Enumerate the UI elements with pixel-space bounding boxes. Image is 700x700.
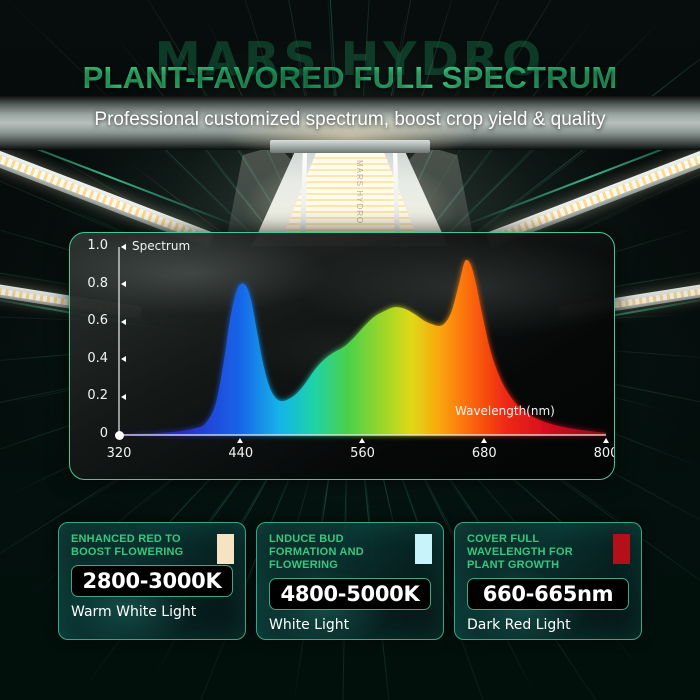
origin-marker xyxy=(115,431,124,440)
fixture-cap xyxy=(270,140,430,153)
card-caption: Dark Red Light xyxy=(467,617,629,633)
card-heading: LNDUCE BUD FORMATION AND FLOWERING xyxy=(269,533,397,572)
legend-tick-icon xyxy=(121,244,126,250)
x-tick-label: 560 xyxy=(333,446,393,461)
y-tick-label: 0.2 xyxy=(74,388,108,403)
card-heading: ENHANCED RED TO BOOST FLOWERING xyxy=(71,533,199,559)
page-subtitle: Professional customized spectrum, boost … xyxy=(0,109,700,131)
warm-white-swatch xyxy=(217,534,234,564)
card-value-pill: 2800-3000K xyxy=(71,565,233,597)
y-tick-label: 1.0 xyxy=(74,238,108,253)
card-caption: White Light xyxy=(269,617,431,633)
x-tick-label: 680 xyxy=(454,446,514,461)
card-caption: Warm White Light xyxy=(71,604,233,620)
card-value: 660-665nm xyxy=(483,582,614,606)
card-heading: COVER FULL WAVELENGTH FOR PLANT GROWTH xyxy=(467,533,595,572)
x-tick-label: 800 xyxy=(576,446,615,461)
spectrum-chart-panel: 00.20.40.60.81.0 320440560680800 Spectru… xyxy=(69,232,615,480)
y-tick-mark xyxy=(121,281,126,287)
card-value-pill: 660-665nm xyxy=(467,578,629,610)
y-tick-label: 0.6 xyxy=(74,313,108,328)
spectrum-plot xyxy=(70,233,615,480)
y-tick-label: 0 xyxy=(74,426,108,441)
dark-red-swatch xyxy=(613,534,630,564)
promo-graphic: MARS HYDRO MARS HYDRO PLANT-FAVORED FULL… xyxy=(0,0,700,700)
y-tick-mark xyxy=(121,394,126,400)
page-title: PLANT-FAVORED FULL SPECTRUM xyxy=(0,60,700,96)
y-tick-label: 0.4 xyxy=(74,351,108,366)
header-block: MARS HYDRO PLANT-FAVORED FULL SPECTRUM xyxy=(0,16,700,98)
y-tick-mark xyxy=(121,356,126,362)
fixture-brand-label: MARS HYDRO xyxy=(355,160,364,224)
x-tick-label: 320 xyxy=(89,446,149,461)
x-tick-mark xyxy=(237,438,243,443)
spec-cards: ENHANCED RED TO BOOST FLOWERING2800-3000… xyxy=(0,522,700,642)
card-warm-white[interactable]: ENHANCED RED TO BOOST FLOWERING2800-3000… xyxy=(58,522,246,640)
x-tick-mark xyxy=(603,438,609,443)
x-axis-title: Wavelength(nm) xyxy=(455,404,555,418)
y-tick-mark xyxy=(121,319,126,325)
x-tick-label: 440 xyxy=(211,446,271,461)
card-value: 2800-3000K xyxy=(83,569,222,593)
card-value-pill: 4800-5000K xyxy=(269,578,431,610)
x-tick-mark xyxy=(481,438,487,443)
white-swatch xyxy=(415,534,432,564)
y-tick-label: 0.8 xyxy=(74,276,108,291)
card-white[interactable]: LNDUCE BUD FORMATION AND FLOWERING4800-5… xyxy=(256,522,444,640)
led-grow-light-fixture: MARS HYDRO xyxy=(252,140,448,246)
card-dark-red[interactable]: COVER FULL WAVELENGTH FOR PLANT GROWTH66… xyxy=(454,522,642,640)
card-value: 4800-5000K xyxy=(281,582,420,606)
legend-label: Spectrum xyxy=(132,239,190,253)
x-tick-mark xyxy=(359,438,365,443)
